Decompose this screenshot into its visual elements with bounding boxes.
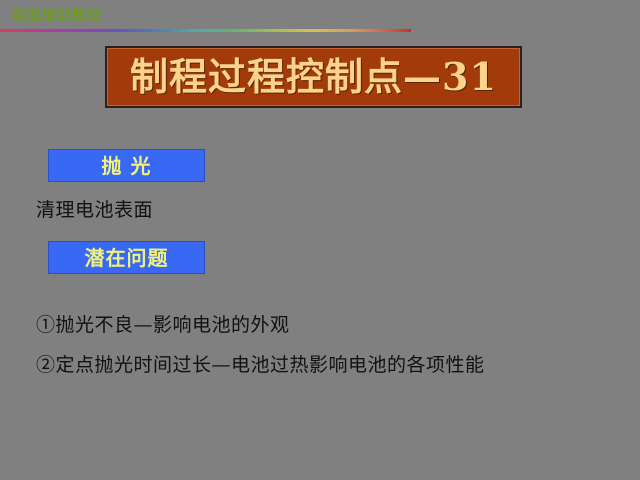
slide-canvas: 电池培训教材 制程过程控制点—31 抛 光 清理电池表面 潜在问题 ①抛光不良—… xyxy=(0,0,640,480)
section-chip-potential-issues-label: 潜在问题 xyxy=(85,246,169,270)
rainbow-divider-rule xyxy=(0,29,411,32)
section-chip-potential-issues: 潜在问题 xyxy=(48,241,205,274)
polish-description-text: 清理电池表面 xyxy=(36,198,153,222)
section-chip-polish: 抛 光 xyxy=(48,149,205,182)
slide-title-box: 制程过程控制点—31 xyxy=(105,46,522,108)
slide-title-text: 制程过程控制点—31 xyxy=(130,55,497,99)
issue-item-2: ②定点抛光时间过长—电池过热影响电池的各项性能 xyxy=(36,353,485,377)
header-course-label: 电池培训教材 xyxy=(11,7,101,24)
section-chip-polish-label: 抛 光 xyxy=(102,154,152,178)
issue-item-1: ①抛光不良—影响电池的外观 xyxy=(36,313,290,337)
